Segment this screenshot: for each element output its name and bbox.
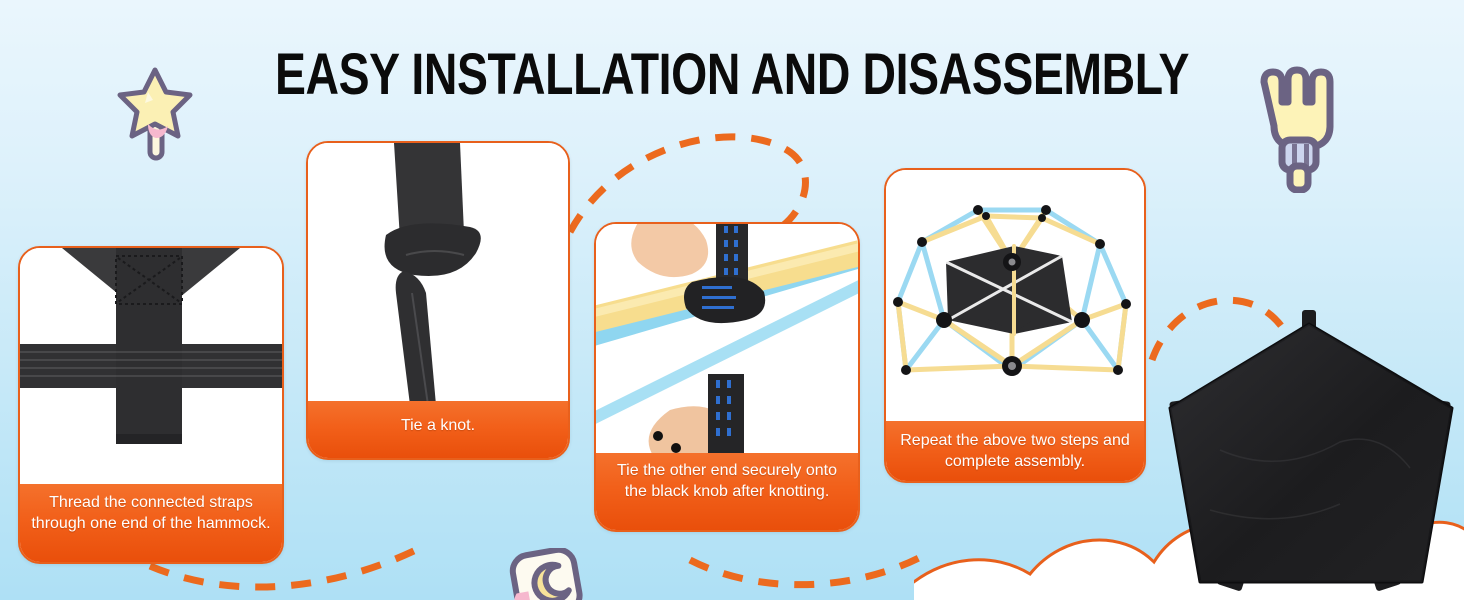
- crescent-moon-card-icon: [505, 548, 589, 600]
- fork-icon: [1248, 48, 1346, 193]
- black-pentagon-hammock: [1160, 300, 1460, 600]
- step-1-photo: [20, 248, 282, 488]
- step-1-caption: Thread the connected straps through one …: [20, 484, 282, 562]
- step-2-photo: [308, 143, 568, 405]
- step-panel-1: Thread the connected straps through one …: [18, 246, 284, 564]
- step-4-photo: [886, 170, 1144, 425]
- connector-3-4: [690, 552, 930, 585]
- step-2-caption: Tie a knot.: [308, 401, 568, 458]
- step-3-photo: [596, 224, 858, 457]
- step-panel-3: Tie the other end securely onto the blac…: [594, 222, 860, 532]
- step-panel-2: Tie a knot.: [306, 141, 570, 460]
- page-title: EASY INSTALLATION AND DISASSEMBLY: [146, 46, 1317, 104]
- step-panel-4: Repeat the above two steps and complete …: [884, 168, 1146, 483]
- step-3-caption: Tie the other end securely onto the blac…: [596, 453, 858, 530]
- connector-2-3: [570, 137, 805, 234]
- step-4-caption: Repeat the above two steps and complete …: [886, 421, 1144, 481]
- star-popsicle-icon: [112, 62, 198, 167]
- infographic-stage: EASY INSTALLATION AND DISASSEMBLY: [0, 0, 1464, 600]
